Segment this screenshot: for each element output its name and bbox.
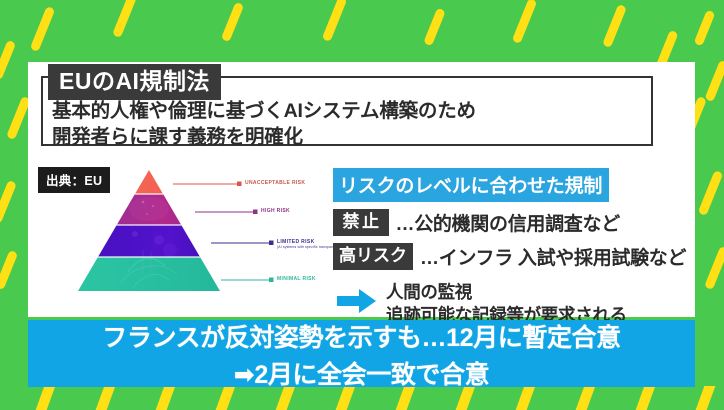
background-dash	[512, 0, 538, 44]
header-description: 基本的人権や倫理に基づくAIシステム構築のため 開発者らに課す義務を明確化	[52, 99, 476, 150]
background-stripe	[696, 386, 716, 410]
summary-banner-line-1: フランスが反対姿勢を示すも…12月に暫定合意	[102, 318, 621, 354]
background-dash	[0, 250, 18, 290]
rule-chip-prohibited: 禁止	[333, 209, 389, 236]
background-stripe	[156, 386, 176, 410]
background-dash	[704, 60, 724, 102]
background-dash	[0, 180, 17, 224]
background-dash	[112, 0, 137, 38]
background-dash	[322, 0, 348, 42]
summary-banner: フランスが反対姿勢を示すも…12月に暫定合意 ➡2月に全会一致で合意	[28, 320, 695, 387]
rule-text-prohibited: …公的機関の信用調査など	[396, 209, 620, 236]
tier-limited	[73, 225, 233, 257]
background-dash	[704, 246, 724, 290]
tier-minimal	[73, 257, 233, 293]
rule-row-prohibited: 禁止 …公的機関の信用調査など	[333, 209, 683, 236]
background-stripe	[516, 386, 536, 410]
summary-banner-line-2: ➡2月に全会一致で合意	[234, 355, 489, 391]
background-stripe	[216, 386, 236, 410]
background-stripe	[636, 386, 656, 410]
background-stripe	[96, 386, 116, 410]
header-description-line-2: 開発者らに課す義務を明確化	[52, 125, 476, 151]
requirement-line-1: 人間の監視	[386, 281, 627, 304]
source-badge: 出典：EU	[38, 167, 110, 193]
background-dash	[30, 6, 56, 52]
risk-level-heading: リスクのレベルに合わせた規制	[333, 168, 609, 202]
regulation-panel: リスクのレベルに合わせた規制 禁止 …公的機関の信用調査など 高リスク …インフ…	[333, 168, 683, 327]
pyramid-label-minimal: MINIMAL RISK	[277, 276, 316, 282]
pyramid-label-unacceptable: UNACCEPTABLE RISK	[245, 180, 305, 186]
background-dash	[698, 170, 724, 216]
background-dash	[0, 40, 16, 80]
background-dash	[221, 2, 244, 42]
risk-pyramid-figure: UNACCEPTABLE RISK HIGH RISK LIMITED RISK…	[73, 162, 338, 310]
rule-row-high-risk: 高リスク …インフラ 入試や採用試験など	[333, 243, 683, 270]
background-stripe	[576, 386, 596, 410]
pyramid-label-limited-main: LIMITED RISK	[277, 239, 315, 245]
background-dash	[694, 10, 716, 47]
rule-chip-high-risk: 高リスク	[333, 243, 413, 270]
background-stripe	[36, 386, 56, 410]
background-dash	[602, 4, 627, 48]
page-title: EUのAI規制法	[48, 64, 221, 100]
rule-text-high-risk: …インフラ 入試や採用試験など	[420, 243, 686, 270]
arrow-right-icon	[337, 288, 377, 319]
info-card: EUのAI規制法 基本的人権や倫理に基づくAIシステム構築のため 開発者らに課す…	[28, 62, 695, 317]
pyramid-label-high: HIGH RISK	[261, 208, 290, 214]
background-dash	[423, 8, 446, 47]
header-description-line-1: 基本的人権や倫理に基づくAIシステム構築のため	[52, 99, 476, 125]
